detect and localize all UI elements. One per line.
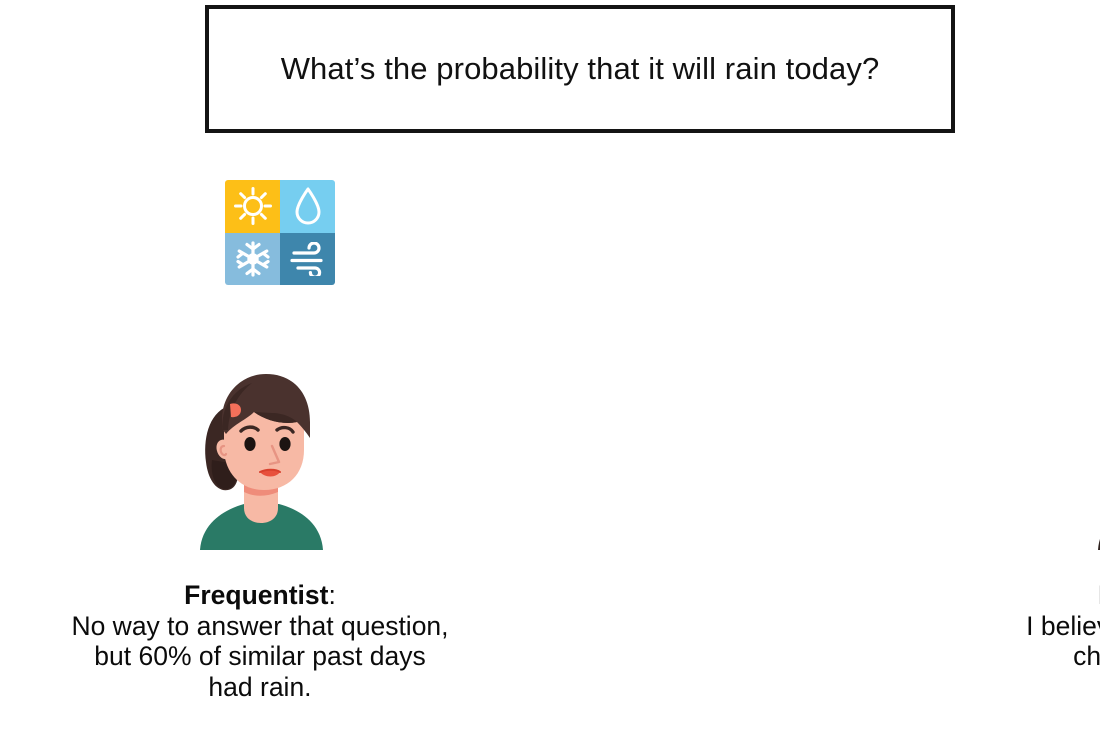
frequentist-icon-slot	[0, 180, 540, 310]
wind-icon	[280, 233, 335, 286]
bayesian-role-line: Bayesian:	[900, 580, 1100, 611]
frequentist-role-label: Frequentist	[184, 580, 328, 610]
frequentist-caption: Frequentist: No way to answer that quest…	[0, 580, 520, 703]
water-drop-icon	[280, 180, 335, 233]
bayesian-caption: Bayesian: I believe there’s a 30% chance…	[645, 580, 1100, 672]
frequentist-line-3: had rain.	[0, 672, 520, 703]
snowflake-icon	[225, 233, 280, 286]
question-banner: What’s the probability that it will rain…	[205, 5, 955, 133]
frequentist-line-2: but 60% of similar past days	[0, 641, 520, 672]
frequentist-line-1: No way to answer that question,	[0, 611, 520, 642]
bayesian-line-1: I believe there’s a 30%	[900, 611, 1100, 642]
sun-icon	[225, 180, 280, 233]
bayesian-column: Bayesian: I believe there’s a 30% chance…	[645, 180, 1100, 740]
frequentist-column: Frequentist: No way to answer that quest…	[0, 180, 520, 740]
bayesian-avatar	[1084, 368, 1100, 550]
frequentist-role-line: Frequentist:	[0, 580, 520, 611]
frequentist-avatar	[184, 368, 336, 550]
question-text: What’s the probability that it will rain…	[281, 50, 880, 87]
frequentist-avatar-slot	[0, 368, 520, 553]
frequentist-colon: :	[328, 580, 335, 610]
weather-grid-icon	[225, 180, 335, 285]
bayesian-avatar-slot	[645, 368, 1100, 553]
bayesian-icon-slot	[645, 180, 1100, 310]
bayesian-line-2: chance of rain.	[900, 641, 1100, 672]
